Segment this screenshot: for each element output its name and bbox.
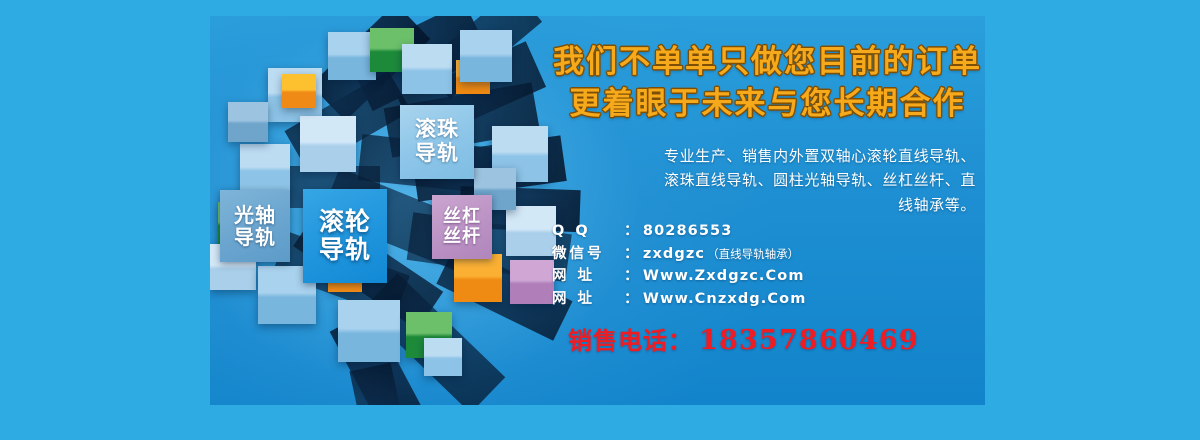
product-label-line1: 光轴 [234, 204, 276, 226]
cube-steel [228, 102, 268, 142]
description-line-2: 滚珠直线导轨、圆柱光轴导轨、丝杠丝杆、直 [568, 168, 976, 192]
sales-phone[interactable]: 销售电话： 18357860469 [568, 321, 978, 356]
cube-amber [454, 254, 502, 302]
banner-panel: 滚珠 导轨 光轴 导轨 滚轮 导轨 丝杠 丝杆 我们不单单只做您目前的订单 更着… [210, 16, 985, 405]
promo-banner: 滚珠 导轨 光轴 导轨 滚轮 导轨 丝杠 丝杆 我们不单单只做您目前的订单 更着… [0, 0, 1200, 440]
cube-blue2 [328, 32, 376, 80]
contact-colon: ： [624, 288, 639, 311]
cube-mauve [510, 260, 554, 304]
contact-colon: ： [624, 265, 639, 288]
product-label-line2: 导轨 [415, 142, 459, 166]
contact-value-wechat[interactable]: zxdgzc [643, 243, 705, 266]
headline-line-2: 更着眼于未来与您长期合作 [550, 84, 985, 126]
headline: 我们不单单只做您目前的订单 更着眼于未来与您长期合作 [550, 42, 985, 125]
product-label-ball-guide: 滚珠 导轨 [400, 105, 474, 179]
product-label-line2: 导轨 [319, 236, 371, 264]
contact-row-website-2: 网 址 ： Www.Cnzxdg.Com [552, 288, 972, 311]
contact-key: 网 址 [552, 288, 626, 311]
headline-line-1: 我们不单单只做您目前的订单 [550, 42, 985, 84]
product-label-roller-guide: 滚轮 导轨 [303, 189, 387, 283]
cube-blue2 [460, 30, 512, 82]
product-label-shaft-guide: 光轴 导轨 [220, 190, 290, 262]
banner-content: 我们不单单只做您目前的订单 更着眼于未来与您长期合作 专业生产、销售内外置双轴心… [550, 16, 985, 405]
contact-colon: ： [624, 220, 639, 243]
contact-row-wechat: 微信号 ： zxdgzc （直线导轨轴承） [552, 243, 972, 266]
contact-key: Q Q [552, 220, 626, 243]
contact-row-website-1: 网 址 ： Www.Zxdgzc.Com [552, 265, 972, 288]
contact-note-wechat: （直线导轨轴承） [707, 246, 799, 264]
contact-value-qq[interactable]: 80286553 [643, 220, 733, 243]
product-label-line1: 丝杠 [443, 207, 481, 227]
cube-blue [424, 338, 462, 376]
contact-key: 微信号 [552, 243, 626, 266]
contact-value-website-1[interactable]: Www.Zxdgzc.Com [643, 265, 805, 288]
cube-blue [402, 44, 452, 94]
cube-pale [300, 116, 356, 172]
product-label-line2: 丝杆 [443, 227, 481, 247]
sales-phone-number[interactable]: 18357860469 [699, 325, 919, 356]
company-description: 专业生产、销售内外置双轴心滚轮直线导轨、 滚珠直线导轨、圆柱光轴导轨、丝杠丝杆、… [568, 144, 976, 217]
contact-value-website-2[interactable]: Www.Cnzxdg.Com [643, 288, 807, 311]
product-label-line1: 滚轮 [319, 208, 371, 236]
sales-phone-label: 销售电话： [568, 321, 693, 356]
contact-colon: ： [624, 243, 639, 266]
cube-orange [282, 74, 316, 108]
product-label-line2: 导轨 [234, 226, 276, 248]
contact-list: Q Q ： 80286553 微信号 ： zxdgzc （直线导轨轴承） 网 址… [552, 220, 972, 310]
contact-key: 网 址 [552, 265, 626, 288]
contact-row-qq: Q Q ： 80286553 [552, 220, 972, 243]
description-line-1: 专业生产、销售内外置双轴心滚轮直线导轨、 [568, 144, 976, 168]
cube-blue2 [338, 300, 400, 362]
product-label-line1: 滚珠 [415, 118, 459, 142]
description-line-3: 线轴承等。 [568, 193, 976, 217]
product-label-lead-screw: 丝杠 丝杆 [432, 195, 492, 259]
cube-pale [506, 206, 556, 256]
cube-blue [240, 144, 290, 194]
